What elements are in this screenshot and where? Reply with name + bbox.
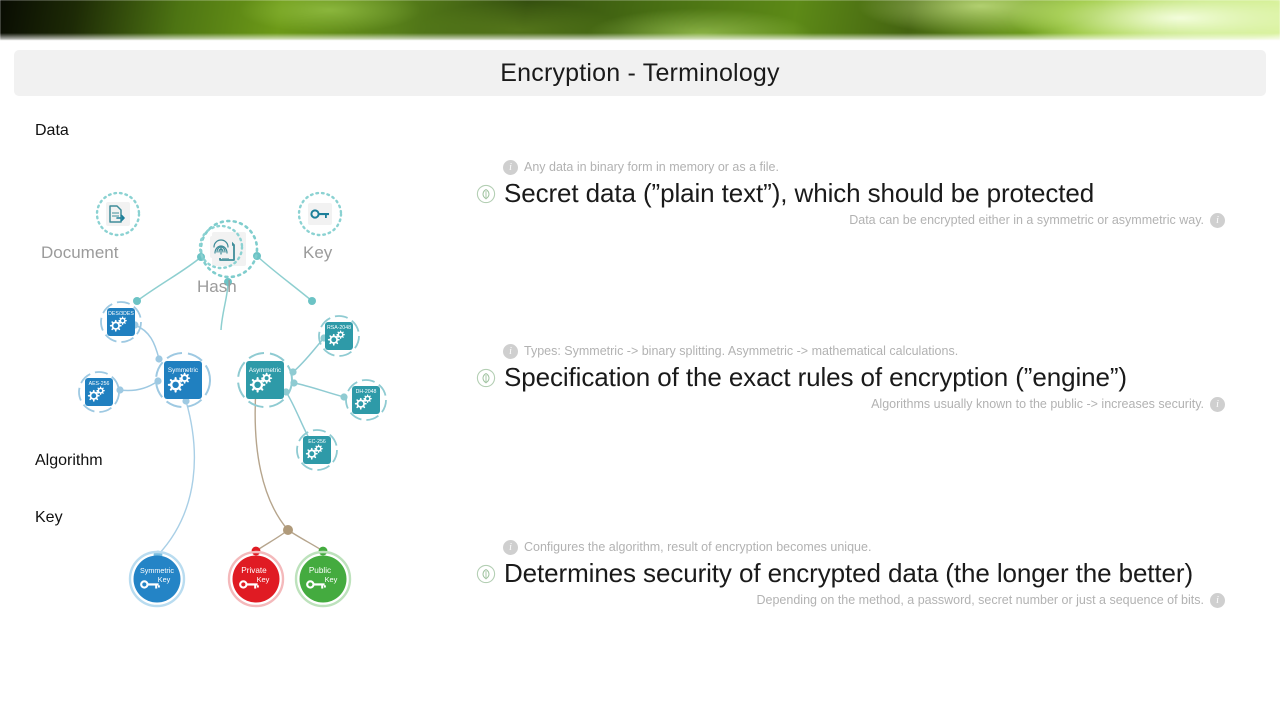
node-label-line1: Private [241, 566, 267, 575]
node-document[interactable] [97, 193, 139, 235]
leaf-circle-icon [476, 564, 496, 584]
terminology-list: i Any data in binary form in memory or a… [470, 100, 1280, 660]
note-bottom-text: Depending on the method, a password, sec… [757, 593, 1205, 607]
note-top-row: i Types: Symmetric -> binary splitting. … [470, 342, 1280, 360]
headline-text: Determines security of encrypted data (t… [504, 558, 1193, 589]
asymmetric-connectors [286, 338, 344, 443]
node-des-3des[interactable]: DES/3DES [101, 302, 141, 342]
slide-title-bar: Encryption - Terminology [14, 50, 1266, 96]
info-icon[interactable]: i [1210, 213, 1225, 228]
note-top-text: Any data in binary form in memory or as … [524, 160, 779, 174]
slide-root: Encryption - Terminology [0, 0, 1280, 720]
node-label: Asymmetric [249, 367, 281, 374]
encryption-terminology-diagram: DES/3DES AES-256 Symmetric Asymm [0, 100, 470, 660]
info-icon[interactable]: i [503, 344, 518, 359]
note-bottom-row: Depending on the method, a password, sec… [470, 591, 1280, 609]
headline-text: Secret data (”plain text”), which should… [504, 178, 1094, 209]
note-bottom-row: Data can be encrypted either in a symmet… [470, 211, 1280, 229]
node-label-line2: Key [325, 575, 338, 584]
node-aes-256[interactable]: AES-256 [79, 372, 119, 412]
node-symmetric[interactable]: Symmetric [156, 353, 210, 407]
headline-text: Specification of the exact rules of encr… [504, 362, 1127, 393]
symmetric-to-key-connector [158, 401, 194, 555]
node-private-key[interactable]: Private Key [229, 552, 283, 606]
node-label: DES/3DES [108, 311, 134, 317]
headline-row: Determines security of encrypted data (t… [470, 558, 1280, 589]
node-symmetric-key[interactable]: Symmetric Key [130, 552, 184, 606]
note-bottom-text: Data can be encrypted either in a symmet… [849, 213, 1204, 227]
node-ec-256[interactable]: EC-256 [297, 430, 337, 470]
headline-row: Specification of the exact rules of encr… [470, 362, 1280, 393]
terminology-block-key: i Configures the algorithm, result of en… [470, 538, 1280, 609]
info-icon[interactable]: i [503, 540, 518, 555]
note-top-row: i Configures the algorithm, result of en… [470, 538, 1280, 556]
node-label-line1: Public [309, 566, 331, 575]
node-label: Symmetric [168, 367, 199, 374]
node-asymmetric[interactable]: Asymmetric [238, 353, 292, 407]
info-icon[interactable]: i [503, 160, 518, 175]
node-label: RSA-2048 [327, 325, 351, 331]
node-label-line2: Key [257, 575, 270, 584]
node-label-line2: Key [158, 575, 171, 584]
node-label-line1: Symmetric [140, 566, 174, 575]
note-top-row: i Any data in binary form in memory or a… [470, 158, 1280, 176]
note-top-text: Configures the algorithm, result of encr… [524, 540, 871, 554]
terminology-block-algorithm: i Types: Symmetric -> binary splitting. … [470, 342, 1280, 413]
leaf-circle-icon [476, 368, 496, 388]
info-icon[interactable]: i [1210, 593, 1225, 608]
connector-dots-algorithm [116, 321, 347, 535]
note-bottom-text: Algorithms usually known to the public -… [871, 397, 1204, 411]
section-label-data: Data [35, 122, 69, 140]
node-caption-key: Key [303, 243, 332, 263]
banner-fade [0, 33, 1280, 42]
section-label-algorithm: Algorithm [35, 452, 103, 470]
terminology-block-data: i Any data in binary form in memory or a… [470, 158, 1280, 229]
headline-row: Secret data (”plain text”), which should… [470, 178, 1280, 209]
node-rsa-2048[interactable]: RSA-2048 [319, 316, 359, 356]
page-title: Encryption - Terminology [500, 59, 779, 88]
node-public-key[interactable]: Public Key [296, 552, 350, 606]
node-key[interactable] [299, 193, 341, 235]
node-caption-document: Document [41, 243, 118, 263]
node-caption-hash: Hash [197, 277, 237, 297]
section-label-key: Key [35, 509, 63, 527]
node-label: EC-256 [308, 439, 326, 445]
leaf-circle-icon [476, 184, 496, 204]
note-top-text: Types: Symmetric -> binary splitting. As… [524, 344, 958, 358]
info-icon[interactable]: i [1210, 397, 1225, 412]
node-dh-2048[interactable]: DH-2048 [346, 380, 386, 420]
note-bottom-row: Algorithms usually known to the public -… [470, 395, 1280, 413]
node-label: DH-2048 [356, 389, 377, 395]
node-label: AES-256 [89, 381, 110, 387]
